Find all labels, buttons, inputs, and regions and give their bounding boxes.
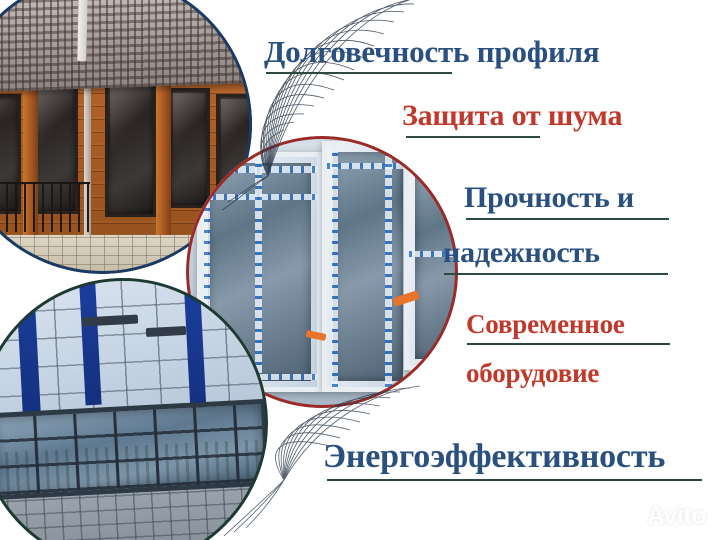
claim-item-energy-efficiency: Энергоэффективность <box>323 440 702 481</box>
claim-item-durability: Долговечность профиля <box>264 36 599 74</box>
tiled-roof <box>0 0 252 95</box>
claim-item-noise-protection: Защита от шума <box>402 101 622 138</box>
claim-underline <box>406 136 540 138</box>
claim-underline <box>266 72 452 74</box>
claim-text: Защита от шума <box>402 99 622 132</box>
claim-underline <box>467 343 670 345</box>
claim-item-strength: Прочность и <box>464 183 669 220</box>
avito-watermark-label: Avito <box>647 502 706 531</box>
claim-text: Энергоэффективность <box>323 438 665 475</box>
veka-protective-film <box>385 146 392 386</box>
advertisement-banner: Долговечность профиля Защита от шума Про… <box>0 0 720 540</box>
building-facade-image <box>0 278 268 540</box>
storefront-glazing <box>0 398 268 499</box>
house-window <box>105 79 156 217</box>
claim-item-modern: Современное <box>466 311 670 345</box>
veka-protective-film <box>332 146 338 386</box>
claim-text: надежность <box>443 236 600 269</box>
claim-text: Современное <box>466 309 625 339</box>
claim-underline <box>327 479 702 481</box>
claim-item-reliability: надежность <box>443 238 668 275</box>
log-corner-post <box>156 64 171 250</box>
window-mullions <box>0 404 265 495</box>
claim-underline <box>466 218 669 220</box>
claim-underline <box>444 273 668 275</box>
claim-text: Прочность и <box>464 181 634 214</box>
pvc-window-unit <box>322 141 414 391</box>
photo-circle-building-facade <box>0 278 268 540</box>
window-glass <box>333 152 403 380</box>
avito-watermark: Avito <box>617 502 706 531</box>
claim-text: оборудовие <box>466 358 599 388</box>
balcony-railing <box>0 182 90 232</box>
roof-ridge <box>77 0 87 61</box>
veka-protective-film <box>327 163 409 169</box>
claim-item-equipment: оборудовие <box>466 360 599 387</box>
avito-dots-icon <box>617 505 643 529</box>
claim-text: Долговечность профиля <box>264 34 599 69</box>
